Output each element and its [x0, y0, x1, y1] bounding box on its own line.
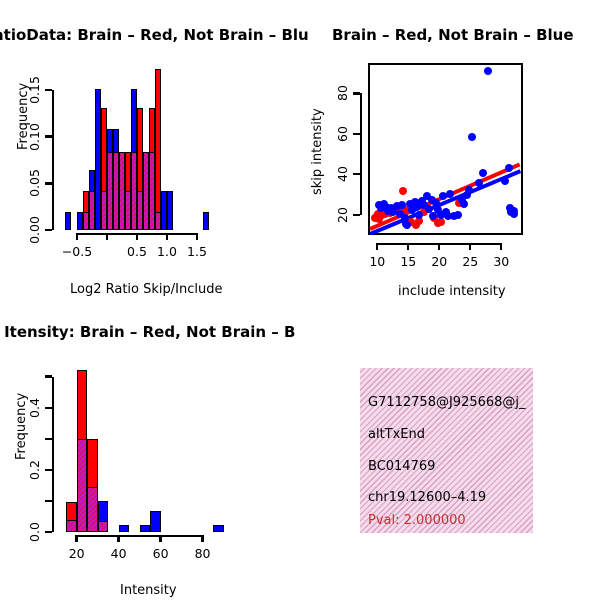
x-axis-tick [407, 243, 409, 250]
scatter-title: Brain – Red, Not Brain – Blue [332, 26, 574, 44]
x-axis-tick-label: 20 [69, 546, 85, 561]
y-axis-tick-label: 0.2 [27, 460, 42, 480]
x-axis-tick-label: 10 [369, 254, 385, 269]
x-axis-tick-label: 30 [493, 254, 509, 269]
y-axis-tick-label: 20 [335, 207, 350, 223]
x-axis-tick [376, 243, 378, 250]
histogram-bar [65, 212, 71, 230]
histogram-bar [203, 212, 209, 230]
histogram-bar [140, 525, 150, 532]
x-axis-tick [75, 535, 77, 542]
info-line-id: G7112758@J925668@j_ [368, 395, 526, 410]
y-axis-line [52, 90, 54, 230]
histogram-bar [167, 191, 173, 230]
scatter-point [403, 221, 411, 229]
x-axis-tick [106, 233, 108, 240]
y-axis-tick-label: 0.4 [27, 398, 42, 418]
x-axis-tick-label: 80 [195, 546, 211, 561]
y-axis-tick-label: 0.00 [27, 216, 42, 244]
scatter-point [460, 200, 468, 208]
x-axis-tick [136, 233, 138, 240]
panel-info: G7112758@J925668@j_ altTxEnd BC014769 ch… [300, 300, 600, 600]
x-axis-tick-label: 60 [153, 546, 169, 561]
x-axis-tick-label: −0.5 [62, 244, 92, 259]
intensity-histogram-title: ne Itensity: Brain – Red, Not Brain – B [0, 323, 295, 341]
info-line-accession: BC014769 [368, 459, 435, 474]
scatter-point [505, 164, 513, 172]
y-axis-tick-label: 0.05 [27, 169, 42, 197]
x-axis-tick-label: 1.0 [157, 244, 177, 259]
scatter-clip [368, 63, 523, 235]
histogram-bar [119, 525, 129, 532]
intensity-histogram-xlabel: Intensity [120, 583, 177, 598]
histogram-bar [150, 511, 160, 532]
scatter-point [484, 67, 492, 75]
y-axis-tick-label: 40 [335, 166, 350, 182]
panel-scatter: Brain – Red, Not Brain – Blue skip inten… [300, 0, 600, 310]
x-axis-tick [438, 243, 440, 250]
scatter-point [437, 218, 445, 226]
x-axis-line [77, 535, 203, 537]
x-axis-tick-label: 0.5 [127, 244, 147, 259]
scatter-xlabel: include intensity [398, 284, 506, 299]
y-axis-tick [45, 531, 52, 533]
scatter-point [415, 211, 423, 219]
y-axis-tick-label: 0.10 [27, 123, 42, 151]
x-axis-tick [159, 535, 161, 542]
x-axis-tick [117, 535, 119, 542]
scatter-point [479, 169, 487, 177]
histogram-bar-overlap [98, 521, 108, 532]
y-axis-tick [45, 135, 52, 137]
y-axis-tick [353, 133, 360, 135]
y-axis-tick [45, 438, 52, 440]
x-axis-tick [500, 243, 502, 250]
scatter-point [454, 211, 462, 219]
info-box: G7112758@J925668@j_ altTxEnd BC014769 ch… [360, 368, 533, 533]
y-axis-tick [45, 229, 52, 231]
x-axis-tick-label: 25 [462, 254, 478, 269]
info-line-locus: chr19.12600–4.19 [368, 490, 486, 505]
x-axis-tick-label: 20 [431, 254, 447, 269]
histogram-bar [213, 525, 223, 532]
y-axis-tick [353, 92, 360, 94]
x-axis-tick-label: 40 [111, 546, 127, 561]
x-axis-tick [166, 233, 168, 240]
scatter-point [468, 133, 476, 141]
y-axis-tick [45, 469, 52, 471]
y-axis-tick [45, 375, 52, 377]
info-line-pval: Pval: 2.000000 [368, 513, 466, 528]
x-axis-tick [201, 535, 203, 542]
histogram-bar-overlap [77, 439, 87, 532]
y-axis-tick-label: 80 [335, 85, 350, 101]
ratio-histogram-title: RatioData: Brain – Red, Not Brain – Blu [0, 26, 309, 44]
figure-canvas: RatioData: Brain – Red, Not Brain – Blu … [0, 0, 600, 600]
x-axis-tick [196, 233, 198, 240]
y-axis-tick-label: 0.15 [27, 76, 42, 104]
y-axis-tick [45, 89, 52, 91]
x-axis-tick [76, 233, 78, 240]
y-axis-tick [45, 407, 52, 409]
y-axis-tick [353, 214, 360, 216]
info-line-event-type: altTxEnd [368, 427, 425, 442]
regression-line [369, 169, 521, 235]
scatter-ylabel: skip intensity [310, 108, 325, 195]
x-axis-tick-label: 15 [400, 254, 416, 269]
panel-intensity-histogram: ne Itensity: Brain – Red, Not Brain – B … [0, 300, 300, 600]
y-axis-tick [45, 500, 52, 502]
y-axis-line [360, 93, 362, 214]
scatter-point [501, 177, 509, 185]
scatter-point [446, 190, 454, 198]
ratio-histogram-xlabel: Log2 Ratio Skip/Include [70, 282, 222, 297]
scatter-point [510, 210, 518, 218]
x-axis-tick [469, 243, 471, 250]
y-axis-tick-label: 60 [335, 126, 350, 142]
histogram-bar-overlap [87, 487, 97, 532]
x-axis-tick-label: 1.5 [187, 244, 207, 259]
scatter-point [399, 187, 407, 195]
y-axis-tick [353, 173, 360, 175]
panel-ratio-histogram: RatioData: Brain – Red, Not Brain – Blu … [0, 0, 300, 310]
histogram-bar-overlap [66, 520, 76, 532]
y-axis-tick-label: 0.0 [27, 522, 42, 542]
y-axis-tick [45, 182, 52, 184]
y-axis-line [52, 377, 54, 532]
